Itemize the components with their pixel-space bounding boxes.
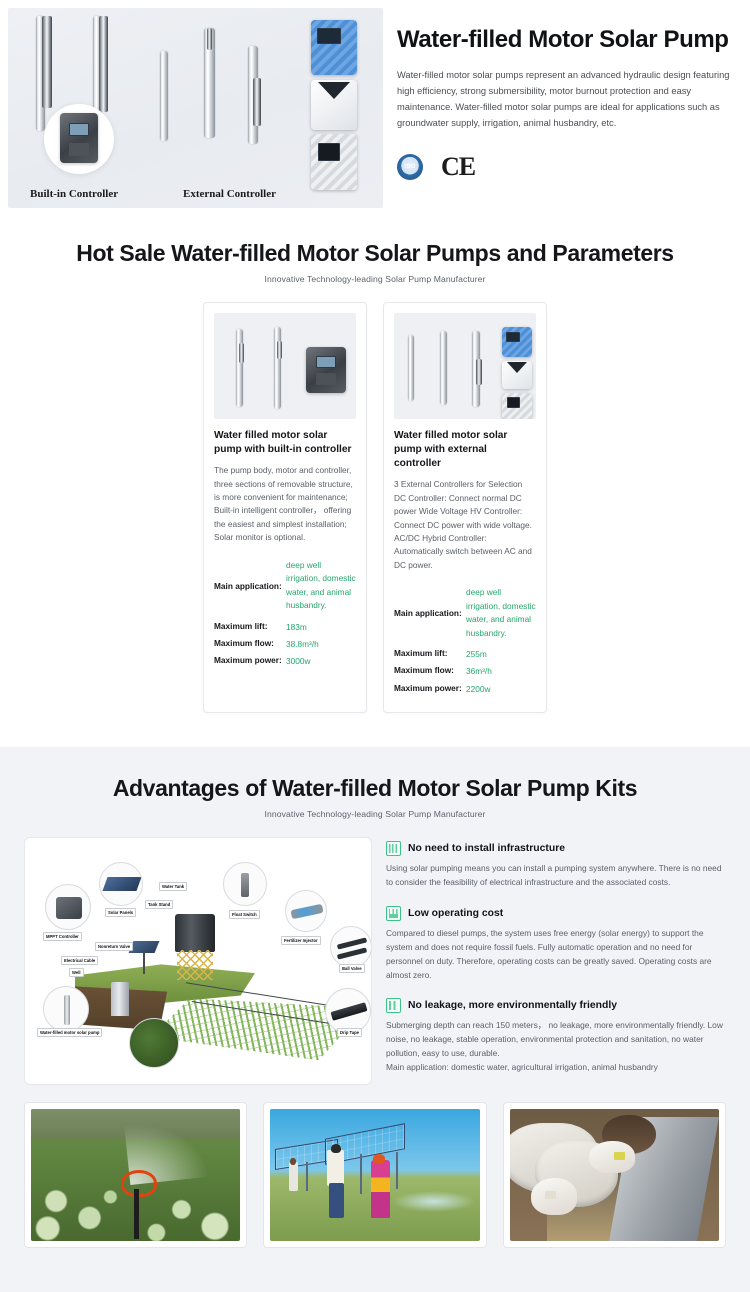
advantages-heading-block: Advantages of Water-filled Motor Solar P… [0,753,750,829]
hero-title: Water-filled Motor Solar Pump [397,26,736,54]
hero-description: Water-filled motor solar pumps represent… [397,68,736,132]
spec-key: Maximum lift: [214,621,286,634]
cost-chart-icon [386,906,401,921]
system-diagram: MPPT Controller Solar Panels Tank Stand … [24,837,372,1085]
spec-value: 36m³/h [466,665,492,678]
advantages-body: MPPT Controller Solar Panels Tank Stand … [0,829,750,1090]
built-in-controller-unit [60,113,98,163]
spec-row-application: Main application: deep well irrigation, … [214,559,356,613]
hero-section: Built-in Controller External Controller … [0,0,750,218]
label-well: Well [69,968,84,977]
label-electrical-cable: Electrical Cable [61,956,98,965]
spec-row-power: Maximum power: 3000w [214,655,356,668]
spec-value: 3000w [286,655,310,668]
advantages-heading: Advantages of Water-filled Motor Solar P… [0,775,750,802]
fertilizer-injector-callout [285,890,327,932]
advantage-title: No need to install infrastructure [408,843,565,854]
product-card-title: Water filled motor solar pump with exter… [394,429,536,471]
advantage-title: Low operating cost [408,908,503,919]
application-photo-gallery [0,1090,750,1270]
spec-key: Maximum power: [394,683,466,696]
product-landing-page: Built-in Controller External Controller … [0,0,750,1292]
hero-text-block: Water-filled Motor Solar Pump Water-fill… [383,8,750,208]
float-switch-callout [223,862,267,906]
label-water-filled-motor-solar-pump: Water-filled motor solar pump [37,1028,102,1037]
label-drip-tape: Drip Tape [337,1028,362,1037]
advantage-body: Submerging depth can reach 150 meters， n… [386,1018,726,1074]
spec-row-flow: Maximum flow: 36m³/h [394,665,536,678]
external-controller-blue [311,20,357,75]
label-float-switch: Float Switch [229,910,260,919]
eco-leakage-icon [386,998,401,1013]
advantage-item-operating-cost: Low operating cost Compared to diesel pu… [386,906,726,982]
iso-badge-label: ISO [404,164,415,170]
label-fertilizer-injector: Fertilizer Injector [281,936,321,945]
advantages-list: No need to install infrastructure Using … [386,837,726,1090]
label-water-tank: Water Tank [159,882,187,891]
product-card-description: 3 External Controllers for Selection DC … [394,478,536,572]
spec-value: deep well irrigation, domestic water, an… [286,559,356,613]
label-solar-panels: Solar Panels [105,908,136,917]
spec-value: deep well irrigation, domestic water, an… [466,586,536,640]
products-heading-block: Hot Sale Water-filled Motor Solar Pumps … [0,218,750,294]
spec-key: Maximum lift: [394,648,466,661]
spec-row-flow: Maximum flow: 38.8m³/h [214,638,356,651]
solar-infrastructure-icon [386,841,401,856]
spec-value: 38.8m³/h [286,638,319,651]
gallery-photo-1[interactable] [24,1102,247,1248]
spec-row-lift: Maximum lift: 183m [214,621,356,634]
iso-certification-icon: ISO [397,154,423,180]
label-mppt-controller: MPPT Controller [43,932,82,941]
hero-caption-external: External Controller [183,188,276,200]
product-card-image-external [394,313,536,419]
advantage-item-infrastructure: No need to install infrastructure Using … [386,841,726,889]
hero-caption-built-in: Built-in Controller [30,188,118,200]
product-card-built-in[interactable]: Water filled motor solar pump with built… [203,302,367,713]
advantage-body: Using solar pumping means you can instal… [386,861,726,889]
product-card-title: Water filled motor solar pump with built… [214,429,356,457]
advantages-section: Advantages of Water-filled Motor Solar P… [0,747,750,1292]
label-tank-stand: Tank Stand [145,900,173,909]
spec-value: 255m [466,648,487,661]
solar-panels-callout [99,862,143,906]
solar-pump-callout [43,986,89,1032]
label-nonreturn-valve: Nonreturn Valve [95,942,133,951]
spec-key: Main application: [394,608,466,618]
external-controller-white [311,80,357,130]
advantage-title: No leakage, more environmentally friendl… [408,1000,617,1011]
ball-valve-callout [330,926,372,968]
product-card-image-built-in [214,313,356,419]
external-controller-grey [311,134,357,190]
photo-sprinkler-vegetable-field [31,1109,240,1241]
advantages-subheading: Innovative Technology-leading Solar Pump… [0,809,750,819]
products-heading: Hot Sale Water-filled Motor Solar Pumps … [0,240,750,267]
products-section: Hot Sale Water-filled Motor Solar Pumps … [0,218,750,747]
ce-certification-icon: CE [441,152,475,182]
spec-row-lift: Maximum lift: 255m [394,648,536,661]
advantage-item-no-leakage: No leakage, more environmentally friendl… [386,998,726,1074]
advantage-body: Compared to diesel pumps, the system use… [386,926,726,982]
photo-sheep-drinking-trough [510,1109,719,1241]
spec-key: Maximum power: [214,655,286,668]
photo-solar-panels-farmers [270,1109,479,1241]
hero-product-image: Built-in Controller External Controller [8,8,383,208]
spec-value: 183m [286,621,307,634]
mppt-controller-callout [45,884,91,930]
product-card-list: Water filled motor solar pump with built… [0,294,750,747]
products-subheading: Innovative Technology-leading Solar Pump… [0,274,750,284]
water-tank-graphic [175,914,215,952]
product-card-external[interactable]: Water filled motor solar pump with exter… [383,302,547,713]
product-card-description: The pump body, motor and controller, thr… [214,464,356,545]
certification-badges: ISO CE [397,152,736,182]
spec-row-power: Maximum power: 2200w [394,683,536,696]
crop-detail-callout [129,1018,179,1068]
spec-value: 2200w [466,683,490,696]
spec-key: Maximum flow: [214,638,286,651]
gallery-photo-2[interactable] [263,1102,486,1248]
label-ball-valve: Ball Valve [339,964,365,973]
gallery-photo-3[interactable] [503,1102,726,1248]
spec-key: Maximum flow: [394,665,466,678]
spec-key: Main application: [214,581,286,591]
spec-row-application: Main application: deep well irrigation, … [394,586,536,640]
